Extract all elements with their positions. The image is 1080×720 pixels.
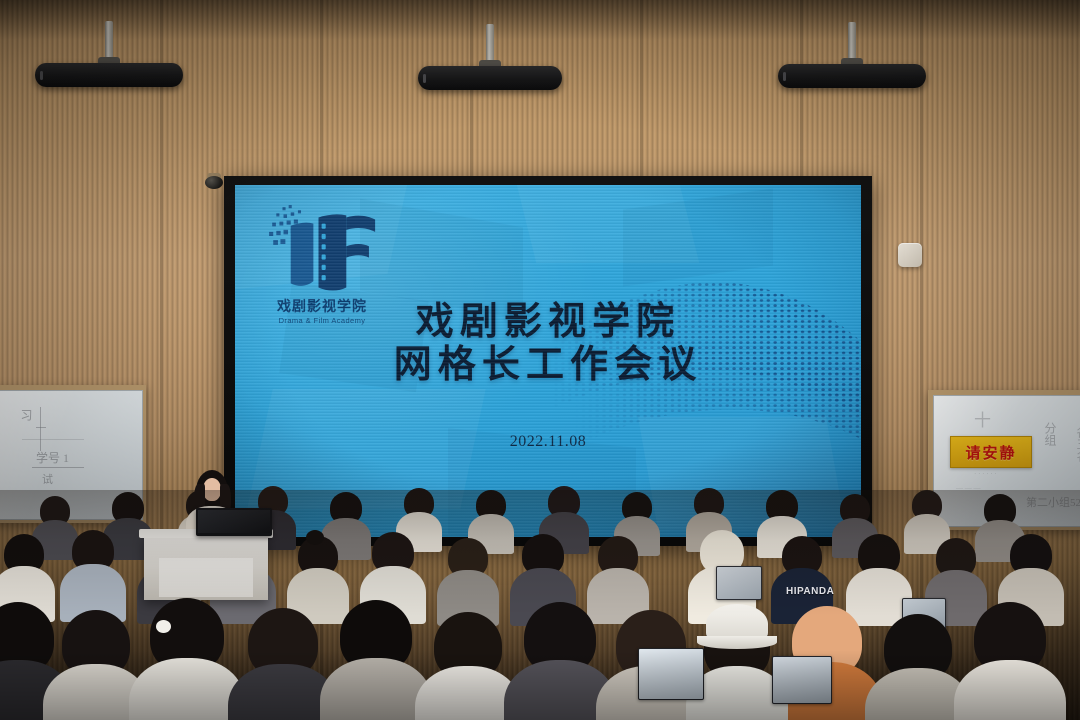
audience-member [150, 598, 224, 672]
audience-member [1010, 534, 1052, 576]
audience-member [0, 602, 54, 674]
audience-laptop[interactable] [772, 656, 832, 704]
hair-bun [306, 530, 324, 545]
slide-title: 戏剧影视学院 网格长工作会议 [235, 301, 861, 387]
whiteboard-note: 习 [18, 409, 35, 421]
audience-member [782, 536, 822, 576]
audience-member [112, 492, 144, 524]
presenter-laptop [196, 508, 272, 536]
lectern [144, 536, 268, 600]
ceiling-speaker-center [418, 58, 562, 92]
audience-member [912, 490, 942, 520]
presenter-head [203, 478, 221, 501]
tablet-screen [639, 649, 703, 699]
speaker-bar [778, 64, 926, 88]
audience-member [72, 530, 114, 572]
audience-member [40, 496, 70, 526]
audience-member [434, 612, 502, 680]
slide-title-line-1: 戏剧影视学院 [235, 301, 861, 342]
audience-tablet[interactable] [638, 648, 704, 700]
audience-member [248, 608, 318, 678]
laptop-screen [198, 510, 270, 533]
audience-member [476, 490, 506, 520]
audience-member [840, 494, 870, 524]
wall-mounted-sensor [898, 243, 922, 267]
quiet-sign-label: 请安静 [965, 442, 1016, 463]
slide-date: 2022.11.08 [235, 433, 861, 451]
audience-member [936, 538, 976, 578]
audience-member [766, 490, 798, 522]
ceiling-shadow [0, 0, 1080, 40]
white-baseball-cap [706, 604, 768, 644]
speaker-bar [418, 66, 562, 90]
audience-member [694, 488, 724, 518]
slide-title-line-2: 网格长工作会议 [235, 342, 861, 387]
whiteboard-underline [32, 467, 84, 468]
audience-member [448, 538, 488, 578]
speaker-bar [35, 63, 183, 87]
whiteboard-stroke [40, 407, 41, 451]
hair-scrunchie [156, 620, 171, 633]
whiteboard-stroke [22, 439, 84, 440]
laptop-screen [717, 567, 761, 599]
speaker-pole [848, 22, 856, 62]
audience-member [974, 602, 1046, 674]
audience-laptop[interactable] [716, 566, 762, 600]
audience-member [858, 534, 900, 576]
speaker-pole [486, 24, 494, 64]
quiet-sign: 请安静 [950, 436, 1032, 468]
audience-seating: HIPANDA [0, 490, 1080, 720]
audience-member [4, 534, 44, 574]
audience-member [372, 532, 414, 574]
film-strip-flag-logo-icon [259, 201, 384, 294]
ceiling-speaker-right [778, 56, 926, 90]
lectern-panel [159, 558, 253, 598]
audience-member [330, 492, 362, 524]
whiteboard-note: 十 [974, 406, 991, 431]
speaker-indicator-icon [783, 72, 786, 81]
audience-member [622, 492, 652, 522]
audience-member [522, 534, 564, 576]
speaker-pole [105, 21, 113, 61]
ceiling-speaker-left [35, 55, 183, 89]
lecture-hall-scene: 习 学号 1 试 十 分组 各五名 第二小组52 — — — · · · · ·… [0, 0, 1080, 720]
audience-member [62, 610, 130, 678]
audience-member [598, 536, 638, 576]
laptop-screen [773, 657, 831, 703]
whiteboard-note: 各五名 [1074, 426, 1080, 462]
audience-member [704, 614, 770, 680]
audience-member [548, 486, 580, 518]
shoulders [129, 658, 244, 720]
whiteboard-note: 学号 1 [36, 449, 69, 466]
whiteboard-note: 试 [42, 471, 53, 487]
audience-member [340, 600, 412, 672]
audience-member [298, 536, 338, 576]
audience-member [404, 488, 434, 518]
audience-member [524, 602, 596, 674]
jacket-brand-text: HIPANDA [786, 586, 834, 597]
speaker-indicator-icon [40, 71, 43, 80]
whiteboard-stroke [36, 427, 46, 428]
audience-member [884, 614, 952, 682]
dome-camera-icon [205, 173, 223, 189]
shoulders [954, 660, 1066, 720]
whiteboard-note: 分组 [1042, 422, 1059, 446]
speaker-indicator-icon [423, 74, 426, 83]
presentation-slide: 戏剧影视学院 Drama & Film Academy 戏剧影视学院 网格长工作… [235, 185, 861, 537]
audience-member [984, 494, 1016, 526]
camera-dome [205, 176, 223, 189]
